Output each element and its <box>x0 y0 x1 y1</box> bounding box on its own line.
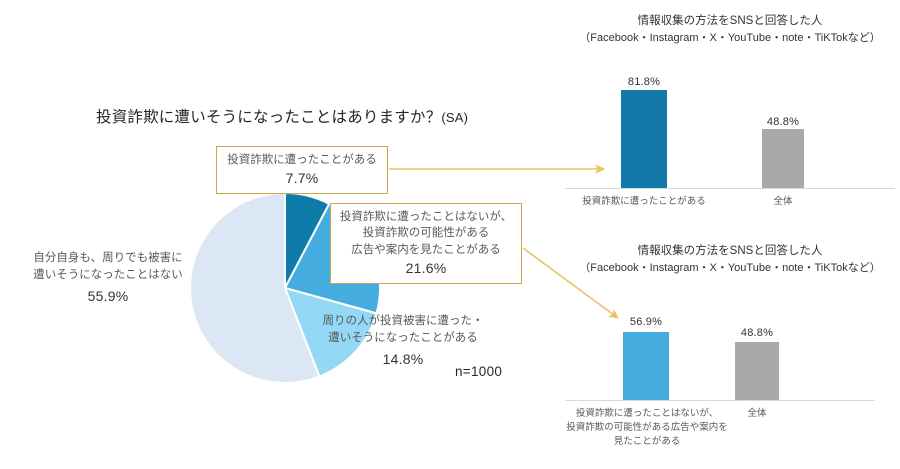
bottom-bar-chart: 56.9% 48.8% 投資詐欺に遭ったことはないが、 投資詐欺の可能性がある広… <box>565 308 895 438</box>
page-title-sa-suffix: (SA) <box>441 110 468 125</box>
bottom-chart-category-overall: 全体 <box>719 407 795 421</box>
top-chart-title-line-2: （Facebook・Instagram・X・YouTube・note・TiKTo… <box>560 30 900 48</box>
callout-experienced-fraud: 投資詐欺に遭ったことがある 7.7% <box>216 146 388 194</box>
top-chart-axis-line <box>565 188 895 189</box>
top-chart-category-overall: 全体 <box>745 195 821 209</box>
bottom-chart-category-saw-suspicious-ad: 投資詐欺に遭ったことはないが、 投資詐欺の可能性がある広告や案内を 見たことがあ… <box>562 407 732 448</box>
top-chart-category-experienced-fraud: 投資詐欺に遭ったことがある <box>573 195 715 209</box>
bottom-chart-category-line-2: 投資詐欺の可能性がある広告や案内を <box>566 422 728 433</box>
bottom-chart-category-line-1: 投資詐欺に遭ったことはないが、 <box>576 408 718 419</box>
bottom-chart-bar-overall <box>735 342 779 400</box>
page-title: 投資詐欺に遭いそうになったことはありますか？(SA) <box>96 105 468 127</box>
pie-label-people-around-affected: 周りの人が投資被害に遭った・ 遭いそうになったことがある 14.8% <box>312 313 494 370</box>
top-chart-value-experienced-fraud: 81.8% <box>611 76 677 88</box>
bottom-chart-value-saw-suspicious-ad: 56.9% <box>613 316 679 328</box>
bottom-chart-value-overall: 48.8% <box>724 327 790 339</box>
pie-label-no-damage: 自分自身も、周りでも被害に 遭いそうになったことはない 55.9% <box>20 250 196 307</box>
bottom-chart-title: 情報収集の方法をSNSと回答した人 （Facebook・Instagram・X・… <box>560 242 900 278</box>
sample-size-label: n=1000 <box>455 364 502 379</box>
top-chart-bar-overall <box>762 129 804 188</box>
top-chart-title-line-1: 情報収集の方法をSNSと回答した人 <box>560 12 900 30</box>
top-chart-bar-experienced-fraud <box>621 90 667 188</box>
bottom-chart-category-line-3: 見たことがある <box>614 436 681 447</box>
pie-label-line-2: 遭いそうになったことがある <box>328 332 478 344</box>
page-title-text: 投資詐欺に遭いそうになったことはありますか？ <box>96 109 441 126</box>
top-chart-value-overall: 48.8% <box>750 116 816 128</box>
pie-label-value: 55.9% <box>20 286 196 307</box>
callout-value: 7.7% <box>224 169 380 189</box>
callout-saw-suspicious-ad: 投資詐欺に遭ったことはないが、 投資詐欺の可能性がある 広告や案内を見たことがあ… <box>330 203 522 284</box>
callout-line-2: 投資詐欺の可能性がある <box>363 227 490 239</box>
bottom-chart-bar-saw-suspicious-ad <box>623 332 669 400</box>
pie-label-line-1: 自分自身も、周りでも被害に <box>33 252 182 264</box>
callout-line-1: 投資詐欺に遭ったことがある <box>227 154 377 166</box>
bottom-chart-title-line-2: （Facebook・Instagram・X・YouTube・note・TiKTo… <box>560 260 900 278</box>
pie-label-line-1: 周りの人が投資被害に遭った・ <box>323 315 484 327</box>
callout-line-3: 広告や案内を見たことがある <box>351 244 501 256</box>
pie-label-line-2: 遭いそうになったことはない <box>33 269 183 281</box>
top-chart-title: 情報収集の方法をSNSと回答した人 （Facebook・Instagram・X・… <box>560 12 900 48</box>
callout-value: 21.6% <box>338 259 514 279</box>
callout-line-1: 投資詐欺に遭ったことはないが、 <box>340 211 512 223</box>
top-bar-chart: 81.8% 48.8% 投資詐欺に遭ったことがある 全体 <box>565 78 895 208</box>
bottom-chart-title-line-1: 情報収集の方法をSNSと回答した人 <box>560 242 900 260</box>
bottom-chart-axis-line <box>565 400 875 401</box>
